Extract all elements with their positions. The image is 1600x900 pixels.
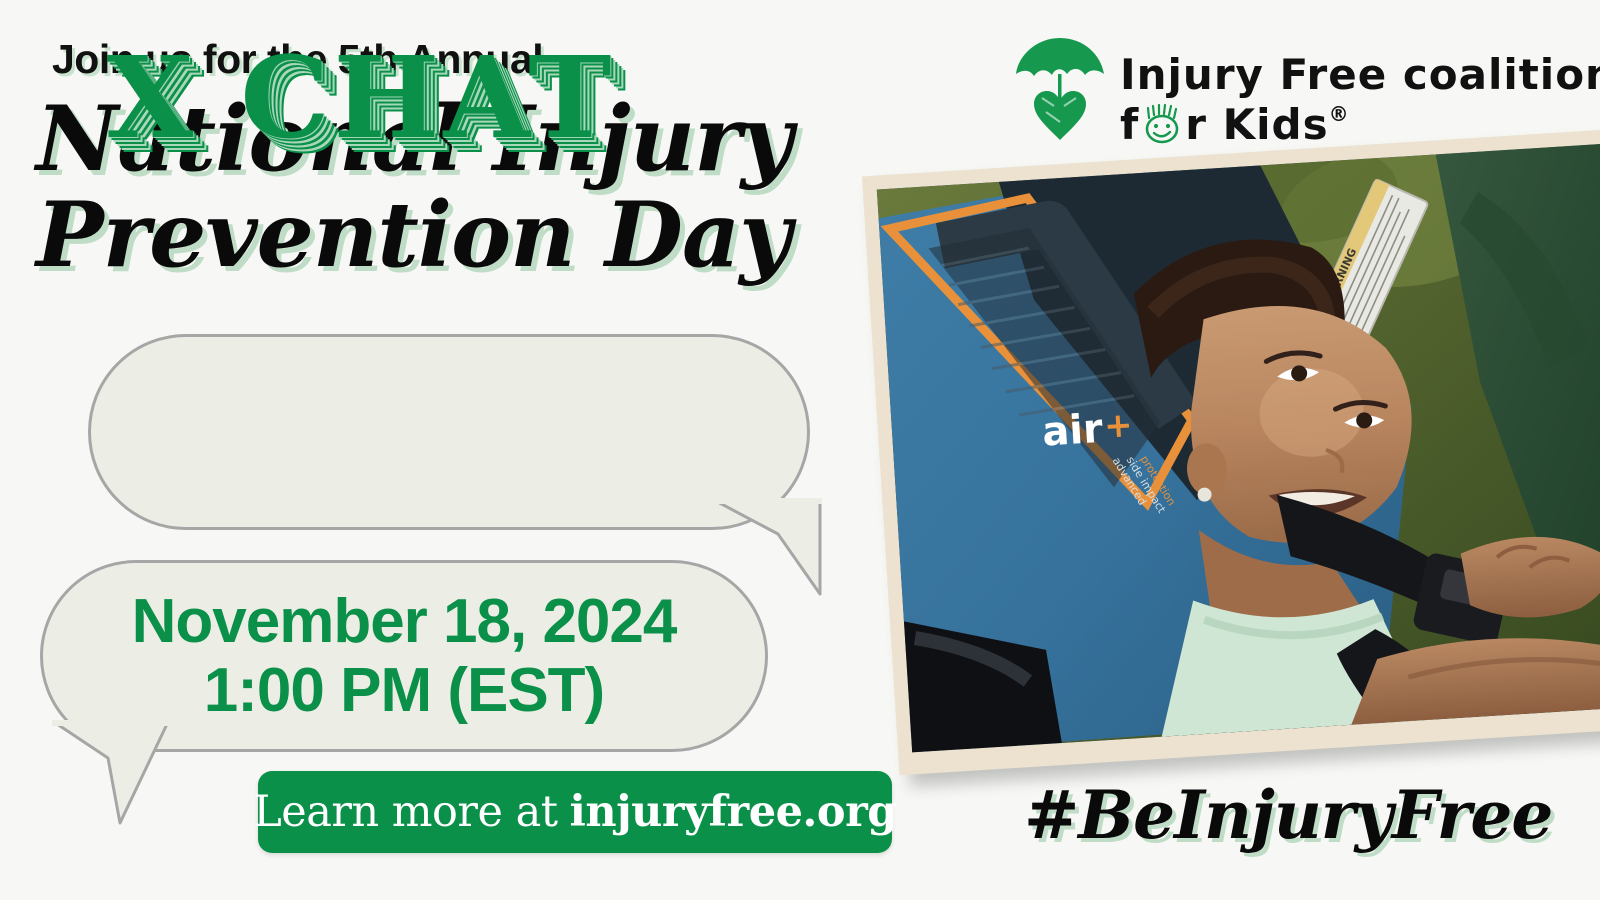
headline-line-2: Prevention Day (36, 190, 876, 282)
date-line-2: 1:00 PM (EST) (204, 656, 604, 725)
cta-prefix: Learn more at (253, 787, 557, 837)
logo[interactable]: Injury Free coalition f r Kids® (1012, 24, 1532, 144)
logo-line-1: Injury Free coalition (1120, 50, 1600, 99)
cta-url: injuryfree.org (570, 787, 897, 837)
hashtag-text: #BeInjuryFree (1024, 776, 1552, 854)
logo-for-f: f (1120, 100, 1139, 149)
svg-text:air: air (1041, 406, 1104, 456)
chat-bubble-label: X CHAT (0, 0, 722, 196)
umbrella-heart-icon (1012, 26, 1108, 149)
learn-more-button[interactable]: Learn more at injuryfree.org (258, 771, 892, 853)
chat-speech-bubble (88, 334, 810, 530)
logo-after-face: r Kids (1185, 100, 1328, 149)
date-bubble-label: November 18, 2024 1:00 PM (EST) (40, 560, 768, 752)
photo-frame: air + advanced side impact protection ⚠ … (862, 129, 1600, 776)
smiley-face-icon (1140, 103, 1184, 157)
registered-mark: ® (1329, 102, 1350, 126)
car-seat-photo: air + advanced side impact protection ⚠ … (877, 144, 1600, 753)
date-line-1: November 18, 2024 (132, 587, 677, 656)
svg-text:+: + (1103, 405, 1134, 447)
poster-canvas: Join us for the 5th Annual National Inju… (0, 0, 1600, 900)
